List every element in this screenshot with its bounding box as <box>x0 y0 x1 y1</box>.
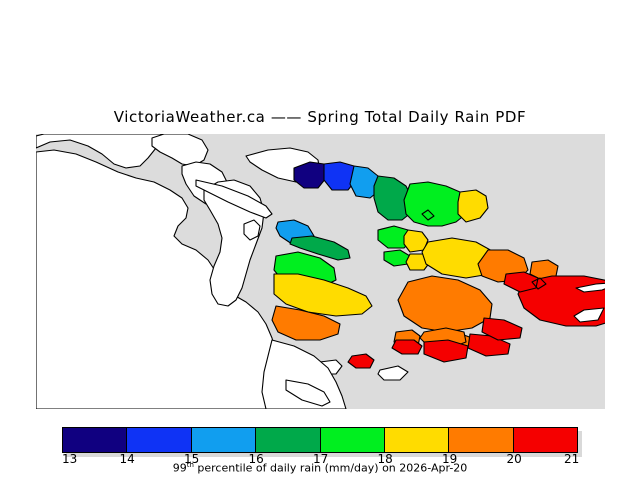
colorbar-segments[interactable] <box>62 427 578 453</box>
caption-prefix: 99 <box>173 462 187 475</box>
colorbar[interactable] <box>62 427 578 453</box>
colorbar-segment-16-17[interactable] <box>256 428 320 452</box>
map-canvas[interactable] <box>36 134 605 409</box>
colorbar-segment-13-14[interactable] <box>63 428 127 452</box>
page-title: VictoriaWeather.ca —— Spring Total Daily… <box>0 108 640 126</box>
caption-superscript: th <box>187 461 194 469</box>
colorbar-segment-15-16[interactable] <box>192 428 256 452</box>
colorbar-segment-18-19[interactable] <box>385 428 449 452</box>
colorbar-segment-17-18[interactable] <box>321 428 385 452</box>
colorbar-segment-19-20[interactable] <box>449 428 513 452</box>
weather-map-figure: VictoriaWeather.ca —— Spring Total Daily… <box>0 0 640 480</box>
caption-rest: percentile of daily rain (mm/day) on 202… <box>194 462 467 475</box>
colorbar-segment-20-21[interactable] <box>514 428 577 452</box>
colorbar-caption: 99th percentile of daily rain (mm/day) o… <box>0 461 640 475</box>
data-region-navy[interactable] <box>294 162 326 188</box>
map-panel[interactable] <box>36 134 605 409</box>
colorbar-segment-14-15[interactable] <box>127 428 191 452</box>
